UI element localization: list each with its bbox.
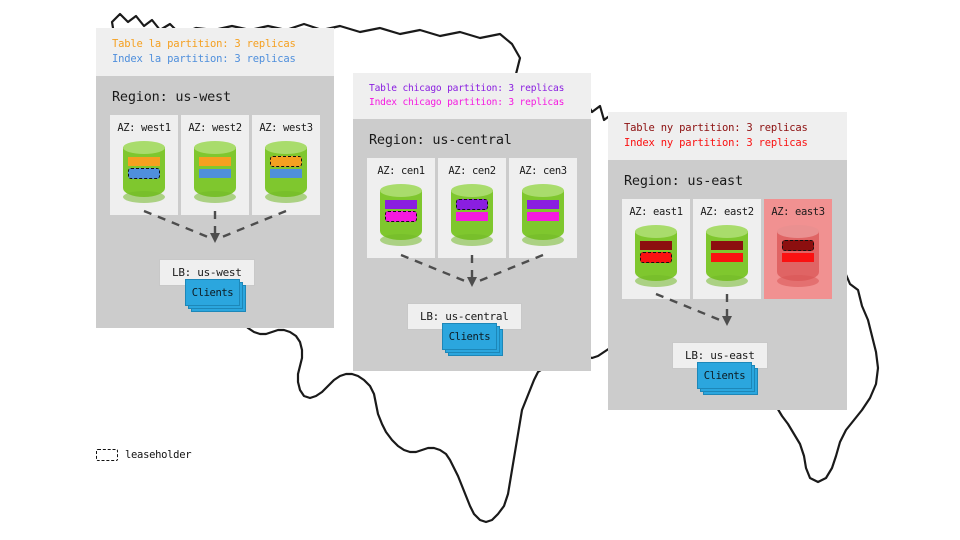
az-cell-cen3[interactable]: AZ: cen3 <box>509 158 577 258</box>
index-ny-replica <box>782 253 814 262</box>
az-label-cen1: AZ: cen1 <box>377 165 424 177</box>
db-node-cen2[interactable] <box>451 184 493 246</box>
az-label-east2: AZ: east2 <box>700 206 753 218</box>
az-strip-us-central: AZ: cen1 AZ: cen2 <box>367 158 591 258</box>
connector-cen1-lb <box>401 255 465 281</box>
region-panel-us-central: Table chicago partition: 3 replicas Inde… <box>353 73 591 371</box>
clients-node-us-central[interactable]: Clients <box>442 323 504 357</box>
az-cell-west1[interactable]: AZ: west1 <box>110 115 178 215</box>
table-la-replica <box>199 157 231 166</box>
table-ny-replica-leaseholder <box>782 240 814 251</box>
cylinder-base <box>265 191 307 203</box>
cylinder-base <box>635 275 677 287</box>
replica-stack <box>711 241 743 262</box>
az-cell-west2[interactable]: AZ: west2 <box>181 115 249 215</box>
legend-line-table: Table chicago partition: 3 replicas <box>369 82 577 96</box>
index-chicago-replica-leaseholder <box>385 211 417 222</box>
legend-line-table: Table ny partition: 3 replicas <box>624 121 833 136</box>
db-node-cen3[interactable] <box>522 184 564 246</box>
cylinder-base <box>380 234 422 246</box>
index-la-replica-leaseholder <box>128 168 160 179</box>
az-strip-us-west: AZ: west1 AZ: west2 <box>110 115 334 215</box>
region-legend-us-east: Table ny partition: 3 replicas Index ny … <box>608 112 847 160</box>
az-label-west1: AZ: west1 <box>117 122 170 134</box>
az-cell-cen2[interactable]: AZ: cen2 <box>438 158 506 258</box>
replica-stack <box>640 241 672 262</box>
diagram-canvas: Table la partition: 3 replicas Index la … <box>0 0 960 540</box>
clients-label: Clients <box>697 362 752 389</box>
index-ny-replica-leaseholder <box>640 252 672 263</box>
cylinder-top <box>522 184 564 197</box>
legend-line-index: Index la partition: 3 replicas <box>112 52 320 67</box>
region-legend-us-central: Table chicago partition: 3 replicas Inde… <box>353 73 591 119</box>
region-panel-us-east: Table ny partition: 3 replicas Index ny … <box>608 112 847 410</box>
connector-cen3-lb <box>479 255 543 281</box>
cylinder-base <box>777 275 819 287</box>
leaseholder-legend-label: leaseholder <box>125 449 191 461</box>
az-label-west2: AZ: west2 <box>188 122 241 134</box>
arrowhead-lb <box>467 277 477 287</box>
cylinder-base <box>451 234 493 246</box>
replica-stack <box>128 157 160 178</box>
az-cell-east3-failed[interactable]: AZ: east3 <box>764 199 832 299</box>
table-la-replica <box>128 157 160 166</box>
db-node-west2[interactable] <box>194 141 236 203</box>
db-node-east3-unavailable[interactable] <box>777 225 819 287</box>
cylinder-base <box>194 191 236 203</box>
index-ny-replica <box>711 253 743 262</box>
clients-node-us-east[interactable]: Clients <box>697 362 759 396</box>
region-title-us-east: Region: us-east <box>608 160 847 199</box>
az-label-cen3: AZ: cen3 <box>519 165 566 177</box>
az-label-west3: AZ: west3 <box>259 122 312 134</box>
region-panel-us-west: Table la partition: 3 replicas Index la … <box>96 28 334 328</box>
table-la-replica-leaseholder <box>270 156 302 167</box>
table-chicago-replica <box>385 200 417 209</box>
legend-line-index: Index chicago partition: 3 replicas <box>369 96 577 110</box>
az-strip-us-east: AZ: east1 AZ: east2 <box>622 199 847 299</box>
db-node-east2[interactable] <box>706 225 748 287</box>
cylinder-base <box>706 275 748 287</box>
cylinder-top <box>380 184 422 197</box>
replica-stack <box>782 241 814 262</box>
db-node-cen1[interactable] <box>380 184 422 246</box>
az-label-cen2: AZ: cen2 <box>448 165 495 177</box>
az-cell-west3[interactable]: AZ: west3 <box>252 115 320 215</box>
region-title-us-central: Region: us-central <box>353 119 591 158</box>
table-ny-replica <box>640 241 672 250</box>
cylinder-base <box>522 234 564 246</box>
replica-stack <box>199 157 231 178</box>
clients-label: Clients <box>185 279 240 306</box>
region-title-us-west: Region: us-west <box>96 76 334 115</box>
table-chicago-replica <box>527 200 559 209</box>
arrowhead-lb <box>210 233 220 243</box>
index-chicago-replica <box>527 212 559 221</box>
table-ny-replica <box>711 241 743 250</box>
legend-line-index: Index ny partition: 3 replicas <box>624 136 833 151</box>
cylinder-base <box>123 191 165 203</box>
replica-stack <box>527 200 559 221</box>
replica-stack <box>456 200 488 221</box>
legend-line-table: Table la partition: 3 replicas <box>112 37 320 52</box>
replica-stack <box>270 157 302 178</box>
leaseholder-legend: leaseholder <box>96 449 191 461</box>
az-label-east3: AZ: east3 <box>771 206 824 218</box>
index-la-replica <box>199 169 231 178</box>
region-legend-us-west: Table la partition: 3 replicas Index la … <box>96 28 334 76</box>
cylinder-top <box>451 184 493 197</box>
clients-node-us-west[interactable]: Clients <box>185 279 247 313</box>
db-node-west3[interactable] <box>265 141 307 203</box>
index-chicago-replica <box>456 212 488 221</box>
arrowhead-lb <box>722 316 732 326</box>
az-cell-east2[interactable]: AZ: east2 <box>693 199 761 299</box>
replica-stack <box>385 200 417 221</box>
table-chicago-replica-leaseholder <box>456 199 488 210</box>
dashed-rect-icon <box>96 449 118 461</box>
az-label-east1: AZ: east1 <box>629 206 682 218</box>
db-node-west1[interactable] <box>123 141 165 203</box>
db-node-east1[interactable] <box>635 225 677 287</box>
az-cell-east1[interactable]: AZ: east1 <box>622 199 690 299</box>
az-cell-cen1[interactable]: AZ: cen1 <box>367 158 435 258</box>
clients-label: Clients <box>442 323 497 350</box>
index-la-replica <box>270 169 302 178</box>
